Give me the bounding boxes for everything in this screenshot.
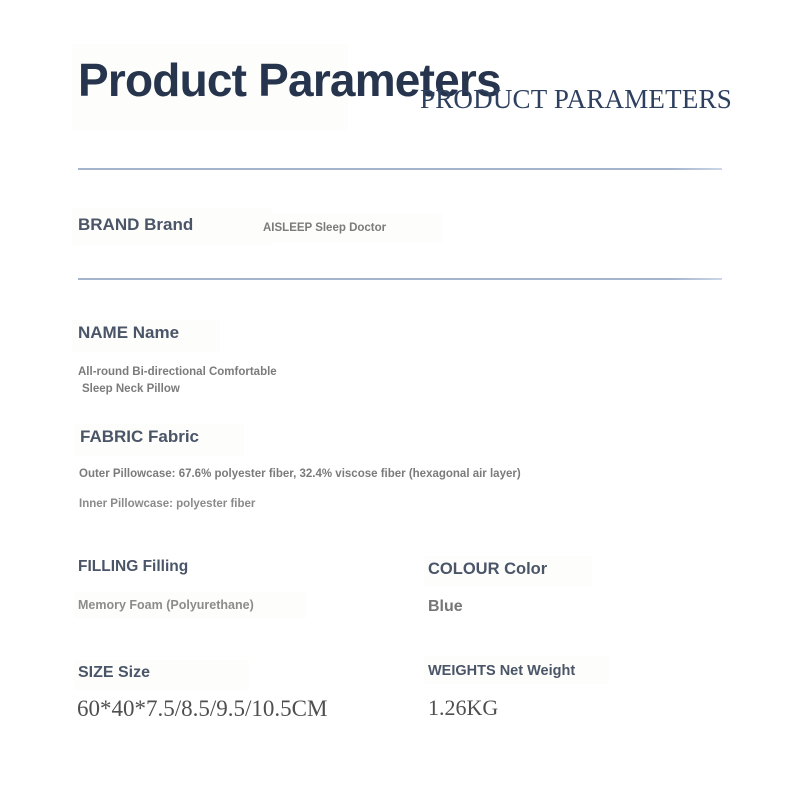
colour-value: Blue	[428, 597, 463, 618]
brand-label: BRAND Brand	[78, 215, 193, 235]
fabric-label: FABRIC Fabric	[80, 427, 199, 447]
fabric-value-inner-pillowcase: Inner Pillowcase: polyester fiber	[79, 497, 255, 512]
divider-above-brand	[78, 168, 722, 170]
page-title-secondary: PRODUCT PARAMETERS	[420, 86, 732, 113]
name-value-line-2: Sleep Neck Pillow	[78, 381, 338, 398]
filling-value: Memory Foam (Polyurethane)	[78, 597, 254, 613]
divider-below-brand	[78, 278, 722, 280]
brand-value: AISLEEP Sleep Doctor	[263, 221, 386, 236]
size-value: 60*40*7.5/8.5/9.5/10.5CM	[77, 697, 327, 720]
weights-value: 1.26KG	[428, 697, 498, 719]
fabric-value-outer-pillowcase: Outer Pillowcase: 67.6% polyester fiber,…	[79, 467, 521, 482]
name-value-line-1: All-round Bi-directional Comfortable	[78, 366, 277, 378]
product-parameters-page: Product Parameters PRODUCT PARAMETERS BR…	[0, 0, 800, 800]
filling-label: FILLING Filling	[78, 558, 188, 576]
weights-label: WEIGHTS Net Weight	[428, 663, 575, 680]
name-value: All-round Bi-directional Comfortable Sle…	[78, 364, 338, 397]
colour-label: COLOUR Color	[428, 560, 547, 579]
size-label: SIZE Size	[78, 664, 150, 682]
name-label: NAME Name	[78, 323, 179, 343]
